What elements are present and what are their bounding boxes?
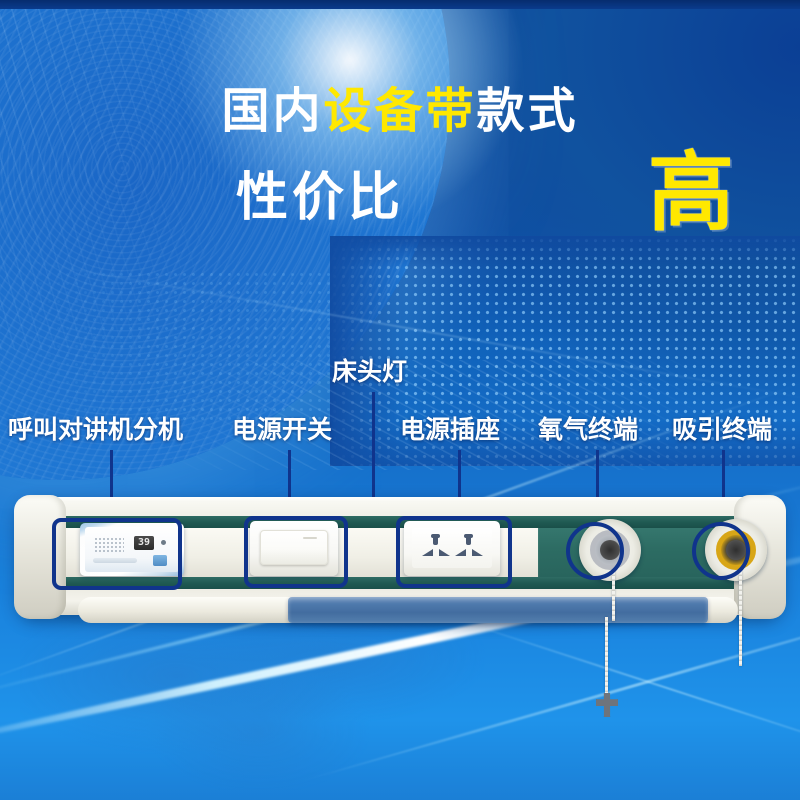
callout-label-intercom: 呼叫对讲机分机 <box>8 418 183 443</box>
hairline-rays <box>150 360 710 470</box>
suction-terminal[interactable] <box>705 519 767 581</box>
switch-notch <box>303 537 317 539</box>
pull-cord-hanging[interactable] <box>605 617 608 697</box>
pull-cord-oxygen[interactable] <box>612 571 615 621</box>
callout-label-bed-lamp: 床头灯 <box>332 360 407 385</box>
callout-label-oxygen: 氧气终端 <box>538 418 638 443</box>
headline-segment-yellow: 设备带 <box>323 85 476 138</box>
socket-pin-top-icon <box>433 536 438 545</box>
callout-label-power-socket: 电源插座 <box>400 418 500 443</box>
callout-label-suction: 吸引终端 <box>672 418 772 443</box>
intercom-display: 39 <box>134 536 154 550</box>
headline-line-1: 国内设备带款式 <box>0 88 800 136</box>
intercom-faceplate: 39 <box>85 527 179 572</box>
socket-pin-left-icon <box>455 549 466 556</box>
socket-pin-right-icon <box>472 549 483 556</box>
switch-rocker[interactable] <box>260 530 328 565</box>
socket-pin-left-icon <box>422 549 433 556</box>
headline-emphasis-char: 高 <box>648 150 734 236</box>
nurse-call-intercom[interactable]: 39 <box>80 523 184 576</box>
panel-end-cap-left <box>14 495 66 619</box>
oxygen-terminal-port-icon <box>600 540 620 560</box>
suction-terminal-port-icon <box>726 540 746 560</box>
oxygen-terminal[interactable] <box>579 519 641 581</box>
intercom-slot <box>93 558 137 563</box>
socket-outlet-1[interactable] <box>421 536 451 560</box>
socket-faceplate <box>412 528 492 568</box>
status-led-icon <box>161 540 166 545</box>
top-edge-band <box>0 0 800 9</box>
power-switch[interactable] <box>250 521 338 576</box>
headline-segment-white-1: 国内 <box>221 85 323 138</box>
power-socket[interactable] <box>404 521 500 576</box>
bed-head-panel: 39 <box>18 497 782 632</box>
promo-banner: 国内设备带款式 性价比 高 呼叫对讲机分机 电源开关 床头灯 电源插座 氧气终端… <box>0 0 800 800</box>
speaker-grille-icon <box>94 537 124 553</box>
headline-segment-white-2: 款式 <box>477 85 579 138</box>
call-button[interactable] <box>153 555 167 566</box>
panel-sliding-rail[interactable] <box>288 597 708 623</box>
socket-outlet-2[interactable] <box>454 536 484 560</box>
socket-pin-top-icon <box>466 536 471 545</box>
panel-stripe-bottom <box>52 577 752 589</box>
pull-cord-suction[interactable] <box>739 571 742 666</box>
headline-line-2: 性价比 <box>0 172 640 224</box>
socket-pin-right-icon <box>439 549 450 556</box>
callout-label-power-switch: 电源开关 <box>232 418 332 443</box>
